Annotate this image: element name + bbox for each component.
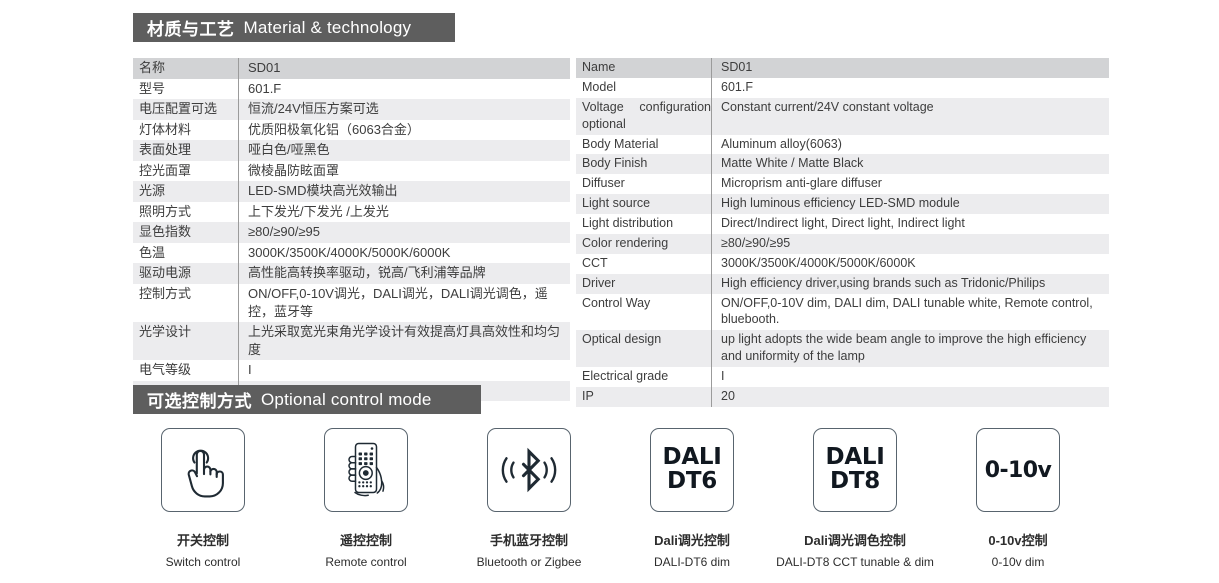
spec-row-value: Matte White / Matte Black bbox=[712, 154, 1110, 174]
spec-row-value: Direct/Indirect light, Direct light, Ind… bbox=[712, 214, 1110, 234]
spec-row: 显色指数≥80/≥90/≥95 bbox=[133, 222, 570, 243]
hand-tap-icon bbox=[176, 441, 230, 499]
hand-remote-icon-box[interactable] bbox=[324, 428, 408, 512]
bluetooth-wave-icon bbox=[498, 446, 560, 494]
control-mode-label-cn: 遥控控制 bbox=[340, 530, 392, 549]
spec-row-label: 光源 bbox=[133, 181, 239, 202]
spec-row-label: Name bbox=[576, 58, 712, 78]
section-header-control-mode-en: Optional control mode bbox=[261, 390, 432, 410]
spec-row-label: 型号 bbox=[133, 79, 239, 100]
spec-row-value: ON/OFF,0-10V调光，DALI调光，DALI调光调色，遥控，蓝牙等 bbox=[239, 284, 571, 322]
control-mode-label-cn: Dali调光控制 bbox=[654, 530, 730, 549]
spec-row-label: Voltage configuration optional bbox=[576, 98, 712, 135]
spec-row: Body MaterialAluminum alloy(6063) bbox=[576, 135, 1109, 155]
spec-row: DriverHigh efficiency driver,using brand… bbox=[576, 274, 1109, 294]
spec-row: 表面处理哑白色/哑黑色 bbox=[133, 140, 570, 161]
spec-row-value: up light adopts the wide beam angle to i… bbox=[712, 330, 1110, 367]
control-mode-item[interactable]: 开关控制Switch control bbox=[128, 428, 278, 569]
spec-row: 灯体材料优质阳极氧化铝（6063合金） bbox=[133, 120, 570, 141]
spec-row-label: Body Material bbox=[576, 135, 712, 155]
control-mode-item[interactable]: 手机蓝牙控制Bluetooth or Zigbee bbox=[454, 428, 604, 569]
section-header-control-mode: 可选控制方式 Optional control mode bbox=[133, 385, 481, 414]
spec-row: Model601.F bbox=[576, 78, 1109, 98]
control-mode-item[interactable]: DALIDT8Dali调光调色控制DALI-DT8 CCT tunable & … bbox=[780, 428, 930, 569]
dali-dt8-icon: DALIDT8 bbox=[826, 446, 885, 494]
control-mode-label-cn: 开关控制 bbox=[177, 530, 229, 549]
spec-row-label: 色温 bbox=[133, 243, 239, 264]
spec-row: 型号601.F bbox=[133, 79, 570, 100]
spec-row: 电压配置可选恒流/24V恒压方案可选 bbox=[133, 99, 570, 120]
spec-row-value: 哑白色/哑黑色 bbox=[239, 140, 571, 161]
spec-row-label: 灯体材料 bbox=[133, 120, 239, 141]
control-mode-label-en: 0-10v dim bbox=[992, 555, 1045, 569]
spec-row-value: 601.F bbox=[712, 78, 1110, 98]
spec-row: 光源LED-SMD模块高光效输出 bbox=[133, 181, 570, 202]
spec-row-label: 名称 bbox=[133, 58, 239, 79]
spec-row-value: SD01 bbox=[712, 58, 1110, 78]
spec-row-label: Optical design bbox=[576, 330, 712, 367]
spec-row-label: Body Finish bbox=[576, 154, 712, 174]
bluetooth-wave-icon-box[interactable] bbox=[487, 428, 571, 512]
spec-row: IP20 bbox=[576, 387, 1109, 407]
control-mode-label-en: DALI-DT6 dim bbox=[654, 555, 730, 569]
spec-row-value: Aluminum alloy(6063) bbox=[712, 135, 1110, 155]
spec-row: Control WayON/OFF,0-10V dim, DALI dim, D… bbox=[576, 294, 1109, 331]
spec-row-value: 上光采取宽光束角光学设计有效提高灯具高效性和均匀度 bbox=[239, 322, 571, 360]
spec-row-label: 控制方式 bbox=[133, 284, 239, 322]
spec-row: Light distributionDirect/Indirect light,… bbox=[576, 214, 1109, 234]
spec-row-value: High efficiency driver,using brands such… bbox=[712, 274, 1110, 294]
spec-row-value: I bbox=[239, 360, 571, 381]
spec-row-label: Light distribution bbox=[576, 214, 712, 234]
spec-row-label: 照明方式 bbox=[133, 202, 239, 223]
zero-to-ten-volt-icon: 0-10v bbox=[985, 458, 1051, 483]
spec-row-label: Light source bbox=[576, 194, 712, 214]
control-mode-item[interactable]: 遥控控制Remote control bbox=[291, 428, 441, 569]
spec-row-value: High luminous efficiency LED-SMD module bbox=[712, 194, 1110, 214]
spec-row-label: Electrical grade bbox=[576, 367, 712, 387]
control-mode-label-en: DALI-DT8 CCT tunable & dim bbox=[776, 555, 934, 569]
spec-row: DiffuserMicroprism anti-glare diffuser bbox=[576, 174, 1109, 194]
hand-remote-icon bbox=[337, 439, 395, 501]
spec-row-value: 恒流/24V恒压方案可选 bbox=[239, 99, 571, 120]
spec-row-label: Color rendering bbox=[576, 234, 712, 254]
control-mode-item[interactable]: 0-10v0-10v控制0-10v dim bbox=[943, 428, 1093, 569]
spec-row: 光学设计上光采取宽光束角光学设计有效提高灯具高效性和均匀度 bbox=[133, 322, 570, 360]
spec-table-chinese: 名称SD01型号601.F电压配置可选恒流/24V恒压方案可选灯体材料优质阳极氧… bbox=[133, 58, 570, 401]
spec-row-value: ON/OFF,0-10V dim, DALI dim, DALI tunable… bbox=[712, 294, 1110, 331]
control-mode-label-en: Switch control bbox=[166, 555, 241, 569]
section-header-material-en: Material & technology bbox=[244, 18, 412, 38]
spec-row-value: 3000K/3500K/4000K/5000K/6000K bbox=[239, 243, 571, 264]
section-header-material: 材质与工艺 Material & technology bbox=[133, 13, 455, 42]
spec-row-label: 表面处理 bbox=[133, 140, 239, 161]
dali-dt8-icon-box[interactable]: DALIDT8 bbox=[813, 428, 897, 512]
control-mode-label-cn: 0-10v控制 bbox=[988, 530, 1047, 549]
spec-row-value: Constant current/24V constant voltage bbox=[712, 98, 1110, 135]
spec-row: Body FinishMatte White / Matte Black bbox=[576, 154, 1109, 174]
spec-row-value: 上下发光/下发光 /上发光 bbox=[239, 202, 571, 223]
spec-row-value: 3000K/3500K/4000K/5000K/6000K bbox=[712, 254, 1110, 274]
spec-row-value: I bbox=[712, 367, 1110, 387]
spec-row: 电气等级I bbox=[133, 360, 570, 381]
spec-row: Electrical gradeI bbox=[576, 367, 1109, 387]
spec-row-label: IP bbox=[576, 387, 712, 407]
hand-tap-icon-box[interactable] bbox=[161, 428, 245, 512]
dali-dt6-icon: DALIDT6 bbox=[663, 446, 722, 494]
spec-row-label: CCT bbox=[576, 254, 712, 274]
spec-row-label: 电压配置可选 bbox=[133, 99, 239, 120]
dali-dt6-icon-box[interactable]: DALIDT6 bbox=[650, 428, 734, 512]
spec-row-label: 显色指数 bbox=[133, 222, 239, 243]
spec-row: Light sourceHigh luminous efficiency LED… bbox=[576, 194, 1109, 214]
spec-row-label: Driver bbox=[576, 274, 712, 294]
control-mode-list: 开关控制Switch control遥控控制Remote control手机蓝牙… bbox=[128, 428, 1093, 576]
control-mode-label-cn: Dali调光调色控制 bbox=[804, 530, 906, 549]
spec-row-value: 微棱晶防眩面罩 bbox=[239, 161, 571, 182]
spec-row-value: ≥80/≥90/≥95 bbox=[239, 222, 571, 243]
spec-row-value: 601.F bbox=[239, 79, 571, 100]
spec-row-label: Diffuser bbox=[576, 174, 712, 194]
spec-row: Optical designup light adopts the wide b… bbox=[576, 330, 1109, 367]
spec-row: Voltage configuration optionalConstant c… bbox=[576, 98, 1109, 135]
control-mode-label-en: Remote control bbox=[325, 555, 406, 569]
spec-row: 控制方式ON/OFF,0-10V调光，DALI调光，DALI调光调色，遥控，蓝牙… bbox=[133, 284, 570, 322]
section-header-material-cn: 材质与工艺 bbox=[147, 15, 235, 40]
spec-row-label: Model bbox=[576, 78, 712, 98]
spec-table-english: NameSD01Model601.FVoltage configuration … bbox=[576, 58, 1109, 407]
spec-row-label: 光学设计 bbox=[133, 322, 239, 360]
zero-to-ten-volt-icon-box[interactable]: 0-10v bbox=[976, 428, 1060, 512]
spec-row: 照明方式上下发光/下发光 /上发光 bbox=[133, 202, 570, 223]
spec-row: 控光面罩微棱晶防眩面罩 bbox=[133, 161, 570, 182]
spec-row: NameSD01 bbox=[576, 58, 1109, 78]
control-mode-label-cn: 手机蓝牙控制 bbox=[490, 530, 568, 549]
spec-row-label: Control Way bbox=[576, 294, 712, 331]
spec-row: 名称SD01 bbox=[133, 58, 570, 79]
spec-row-value: ≥80/≥90/≥95 bbox=[712, 234, 1110, 254]
spec-row: CCT3000K/3500K/4000K/5000K/6000K bbox=[576, 254, 1109, 274]
spec-row: 驱动电源高性能高转换率驱动，锐高/飞利浦等品牌 bbox=[133, 263, 570, 284]
section-header-control-mode-cn: 可选控制方式 bbox=[147, 387, 252, 412]
spec-row-label: 电气等级 bbox=[133, 360, 239, 381]
spec-row-value: 高性能高转换率驱动，锐高/飞利浦等品牌 bbox=[239, 263, 571, 284]
spec-row-value: 20 bbox=[712, 387, 1110, 407]
spec-row-value: LED-SMD模块高光效输出 bbox=[239, 181, 571, 202]
control-mode-label-en: Bluetooth or Zigbee bbox=[477, 555, 582, 569]
spec-row-label: 控光面罩 bbox=[133, 161, 239, 182]
spec-row: Color rendering≥80/≥90/≥95 bbox=[576, 234, 1109, 254]
spec-row-value: Microprism anti-glare diffuser bbox=[712, 174, 1110, 194]
spec-row-value: 优质阳极氧化铝（6063合金） bbox=[239, 120, 571, 141]
spec-row-label: 驱动电源 bbox=[133, 263, 239, 284]
spec-row-value: SD01 bbox=[239, 58, 571, 79]
control-mode-item[interactable]: DALIDT6Dali调光控制DALI-DT6 dim bbox=[617, 428, 767, 569]
spec-row: 色温3000K/3500K/4000K/5000K/6000K bbox=[133, 243, 570, 264]
